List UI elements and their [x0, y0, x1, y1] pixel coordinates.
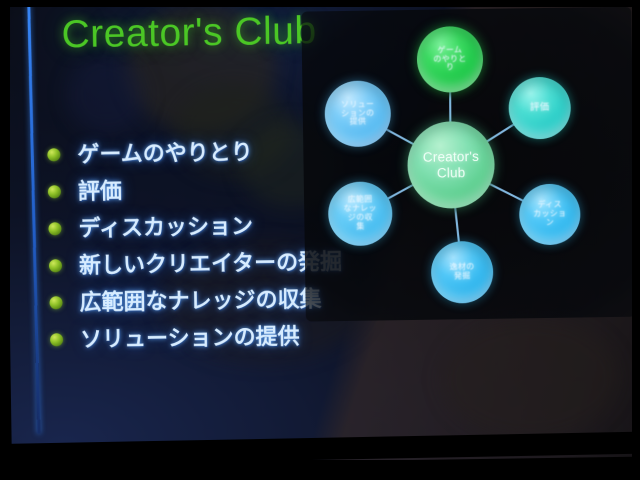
hub-label: Creator's Club	[423, 149, 480, 180]
letterbox-top	[0, 0, 640, 7]
green-sphere-bullet-icon	[48, 222, 61, 235]
list-item-label: 評価	[78, 173, 122, 206]
slide-title: Creator's Club	[61, 9, 317, 57]
letterbox-right	[632, 0, 640, 480]
green-sphere-bullet-icon	[49, 296, 62, 309]
green-sphere-bullet-icon	[49, 259, 62, 272]
node-label: 広範囲 なナレッ ジの収 集	[343, 196, 377, 232]
presentation-slide: Creator's Club ゲームのやりとり 評価 ディスカッション 新しいク…	[5, 0, 640, 466]
node-label: ソリュー ションの 提供	[341, 100, 375, 127]
node-label: 評価	[530, 103, 550, 114]
node-label: 逸材の 発掘	[450, 263, 475, 281]
projector-photo: Creator's Club ゲームのやりとり 評価 ディスカッション 新しいク…	[0, 0, 640, 480]
letterbox-bottom	[0, 460, 640, 480]
green-sphere-bullet-icon	[48, 185, 61, 198]
list-item-label: ソリューションの提供	[80, 319, 300, 354]
letterbox-left	[0, 0, 10, 480]
list-item-label: ゲームのやりとり	[77, 134, 253, 169]
list-item-label: ディスカッション	[78, 208, 253, 243]
green-sphere-bullet-icon	[47, 148, 60, 161]
list-item-label: 新しいクリエイターの発掘	[79, 244, 343, 280]
background-blob	[440, 317, 622, 440]
projector-light-streak	[27, 4, 40, 434]
background-blob	[66, 54, 147, 135]
node-label: ディス カッショ ン	[533, 201, 567, 228]
list-item: ソリューションの提供	[50, 317, 401, 359]
green-sphere-bullet-icon	[50, 333, 63, 346]
node-label: ゲーム のやりと り	[433, 46, 467, 73]
hub-and-spoke-diagram: ゲーム のやりと り 評価 ディス カッショ ン	[301, 7, 636, 322]
list-item-label: 広範囲なナレッジの収集	[79, 281, 321, 317]
